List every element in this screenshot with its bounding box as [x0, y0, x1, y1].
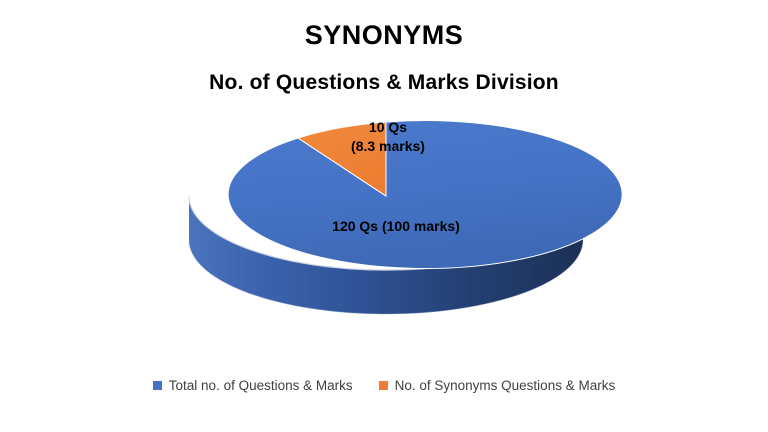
legend-swatch-blue-icon: [153, 381, 162, 390]
legend-item-total[interactable]: Total no. of Questions & Marks: [153, 378, 353, 393]
legend-label-total: Total no. of Questions & Marks: [169, 378, 353, 393]
legend-item-synonyms[interactable]: No. of Synonyms Questions & Marks: [379, 378, 616, 393]
data-label-synonyms-line1: 10 Qs: [318, 118, 458, 137]
page-title: SYNONYMS: [0, 20, 768, 51]
data-label-synonyms: 10 Qs (8.3 marks): [318, 118, 458, 156]
legend-label-synonyms: No. of Synonyms Questions & Marks: [395, 378, 616, 393]
legend-swatch-orange-icon: [379, 381, 388, 390]
chart-legend: Total no. of Questions & Marks No. of Sy…: [0, 378, 768, 393]
data-label-synonyms-line2: (8.3 marks): [318, 137, 458, 156]
chart-subtitle: No. of Questions & Marks Division: [0, 71, 768, 95]
slide-canvas: SYNONYMS No. of Questions & Marks Divisi…: [0, 0, 768, 432]
data-label-total: 120 Qs (100 marks): [286, 217, 506, 236]
pie-chart[interactable]: 10 Qs (8.3 marks) 120 Qs (100 marks): [0, 100, 768, 360]
